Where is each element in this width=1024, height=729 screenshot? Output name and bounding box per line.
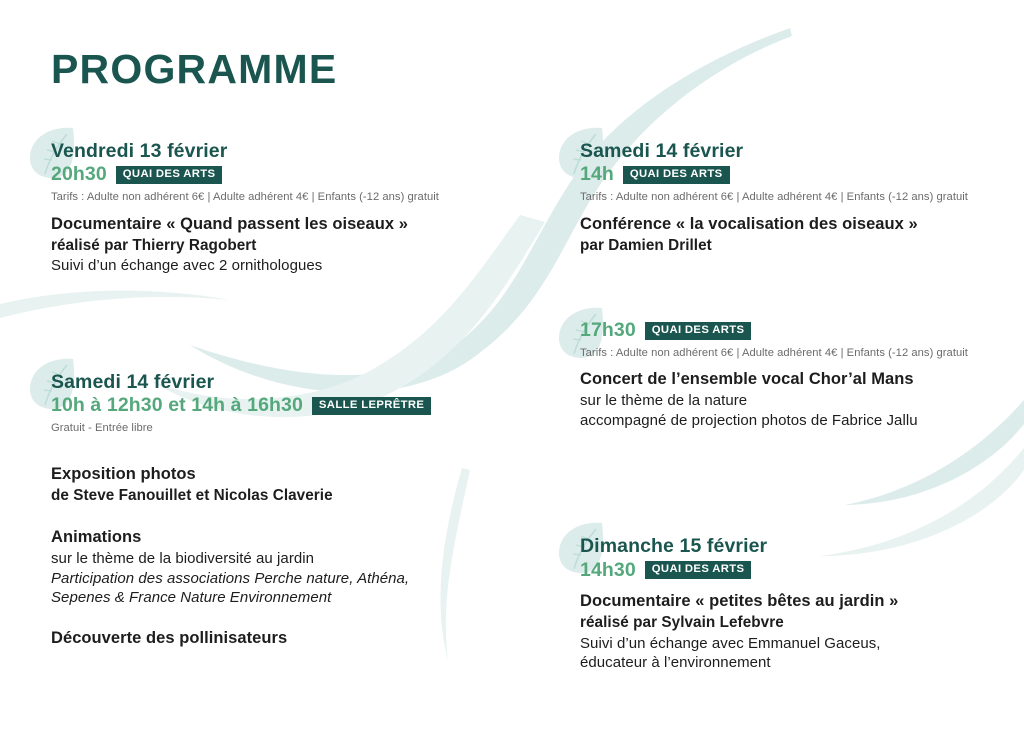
entry-line: éducateur à l’environnement <box>580 653 1010 673</box>
event-date: Dimanche 15 février <box>580 535 1010 558</box>
entry-line: accompagné de projection photos de Fabri… <box>580 411 1010 431</box>
event-block-samedi-14-expo: Samedi 14 février 10h à 12h30 et 14h à 1… <box>51 371 501 651</box>
entry-line: Participation des associations Perche na… <box>51 569 501 589</box>
entry-title: Conférence « la vocalisation des oiseaux… <box>580 214 1010 236</box>
event-date: Samedi 14 février <box>51 371 501 394</box>
column-spacer <box>580 431 1010 535</box>
left-column: Vendredi 13 février 20h30 QUAI DES ARTS … <box>51 140 501 650</box>
event-time-row: 14h30 QUAI DES ARTS <box>580 559 1010 581</box>
entry-title: Exposition photos <box>51 464 501 486</box>
entry-title: Documentaire « Quand passent les oiseaux… <box>51 214 501 236</box>
tarifs-line: Gratuit - Entrée libre <box>51 421 501 436</box>
entry-line: de Steve Fanouillet et Nicolas Claverie <box>51 486 501 506</box>
venue-badge: QUAI DES ARTS <box>623 166 730 184</box>
entry-group: Animations sur le thème de la biodiversi… <box>51 527 501 609</box>
entry-group: Exposition photos de Steve Fanouillet et… <box>51 464 501 506</box>
right-column: Samedi 14 février 14h QUAI DES ARTS Tari… <box>580 140 1010 673</box>
event-time-row: 20h30 QUAI DES ARTS <box>51 164 501 186</box>
entry-line: réalisé par Sylvain Lefebvre <box>580 613 1010 633</box>
entry-line: réalisé par Thierry Ragobert <box>51 236 501 256</box>
event-date: Vendredi 13 février <box>51 140 501 163</box>
tarifs-line: Tarifs : Adulte non adhérent 6€ | Adulte… <box>580 190 1010 205</box>
event-time: 17h30 <box>580 320 636 341</box>
entry-line: sur le thème de la biodiversité au jardi… <box>51 549 501 569</box>
event-block-dimanche-15: Dimanche 15 février 14h30 QUAI DES ARTS … <box>580 535 1010 673</box>
entry-spacer <box>51 507 501 527</box>
entry-spacer <box>51 444 501 464</box>
entry-line: par Damien Drillet <box>580 236 1010 256</box>
venue-badge: QUAI DES ARTS <box>645 322 752 340</box>
venue-badge: QUAI DES ARTS <box>645 561 752 579</box>
entry-title: Découverte des pollinisateurs <box>51 628 501 650</box>
page-title: PROGRAMME <box>51 49 337 90</box>
venue-badge: QUAI DES ARTS <box>116 166 223 184</box>
column-spacer <box>580 256 1010 320</box>
event-time: 10h à 12h30 et 14h à 16h30 <box>51 395 303 416</box>
event-time-row: 10h à 12h30 et 14h à 16h30 SALLE LEPRÊTR… <box>51 395 501 417</box>
programme-poster: PROGRAMME Vendredi 13 février 20h30 QUAI… <box>0 0 1024 729</box>
event-block-samedi-14-conference: Samedi 14 février 14h QUAI DES ARTS Tari… <box>580 140 1010 256</box>
event-time-row: 14h QUAI DES ARTS <box>580 164 1010 186</box>
event-time: 14h <box>580 164 614 185</box>
tarifs-line: Tarifs : Adulte non adhérent 6€ | Adulte… <box>580 346 1010 361</box>
event-time: 14h30 <box>580 560 636 581</box>
entry-line: Suivi d’un échange avec 2 ornithologues <box>51 256 501 276</box>
event-date: Samedi 14 février <box>580 140 1010 163</box>
entry-group: Concert de l’ensemble vocal Chor’al Mans… <box>580 369 1010 431</box>
entry-group: Documentaire « Quand passent les oiseaux… <box>51 214 501 276</box>
entry-group: Documentaire « petites bêtes au jardin »… <box>580 591 1010 673</box>
event-time-row: 17h30 QUAI DES ARTS <box>580 320 1010 342</box>
entry-spacer <box>51 608 501 628</box>
event-block-samedi-14-concert: 17h30 QUAI DES ARTS Tarifs : Adulte non … <box>580 320 1010 431</box>
entry-title: Documentaire « petites bêtes au jardin » <box>580 591 1010 613</box>
entry-group: Conférence « la vocalisation des oiseaux… <box>580 214 1010 256</box>
tarifs-line: Tarifs : Adulte non adhérent 6€ | Adulte… <box>51 190 501 205</box>
event-block-vendredi-13: Vendredi 13 février 20h30 QUAI DES ARTS … <box>51 140 501 276</box>
entry-group: Découverte des pollinisateurs <box>51 628 501 650</box>
entry-title: Animations <box>51 527 501 549</box>
entry-line: sur le thème de la nature <box>580 391 1010 411</box>
entry-line: Suivi d’un échange avec Emmanuel Gaceus, <box>580 634 1010 654</box>
entry-title: Concert de l’ensemble vocal Chor’al Mans <box>580 369 1010 391</box>
event-time: 20h30 <box>51 164 107 185</box>
column-spacer <box>51 276 501 371</box>
entry-line: Sepenes & France Nature Environnement <box>51 588 501 608</box>
venue-badge: SALLE LEPRÊTRE <box>312 397 431 415</box>
